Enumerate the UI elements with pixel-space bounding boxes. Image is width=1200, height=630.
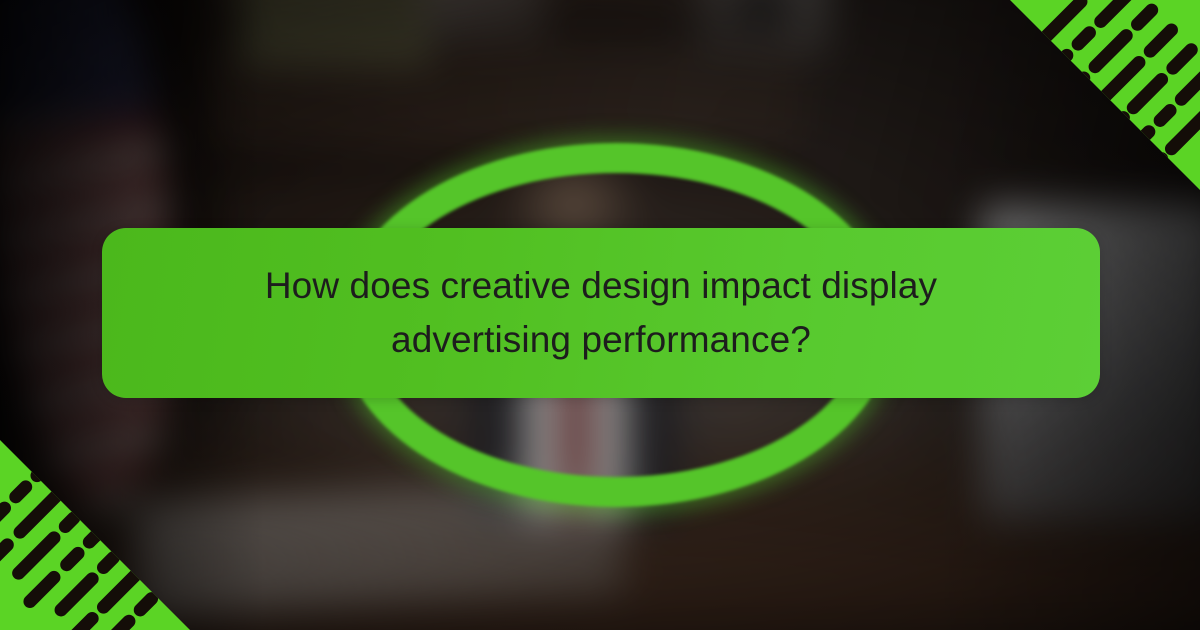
question-line-2: advertising performance? (391, 319, 811, 360)
question-line-1: How does creative design impact display (265, 265, 937, 306)
question-card: How does creative design impact display … (102, 228, 1100, 398)
corner-decoration-top-right (1010, 0, 1200, 190)
question-text: How does creative design impact display … (186, 259, 1016, 366)
question-card-banner: How does creative design impact display … (0, 0, 1200, 630)
dashed-diagonal-icon (1010, 0, 1200, 190)
dashed-diagonal-icon (0, 440, 190, 630)
corner-decoration-bottom-left (0, 440, 190, 630)
